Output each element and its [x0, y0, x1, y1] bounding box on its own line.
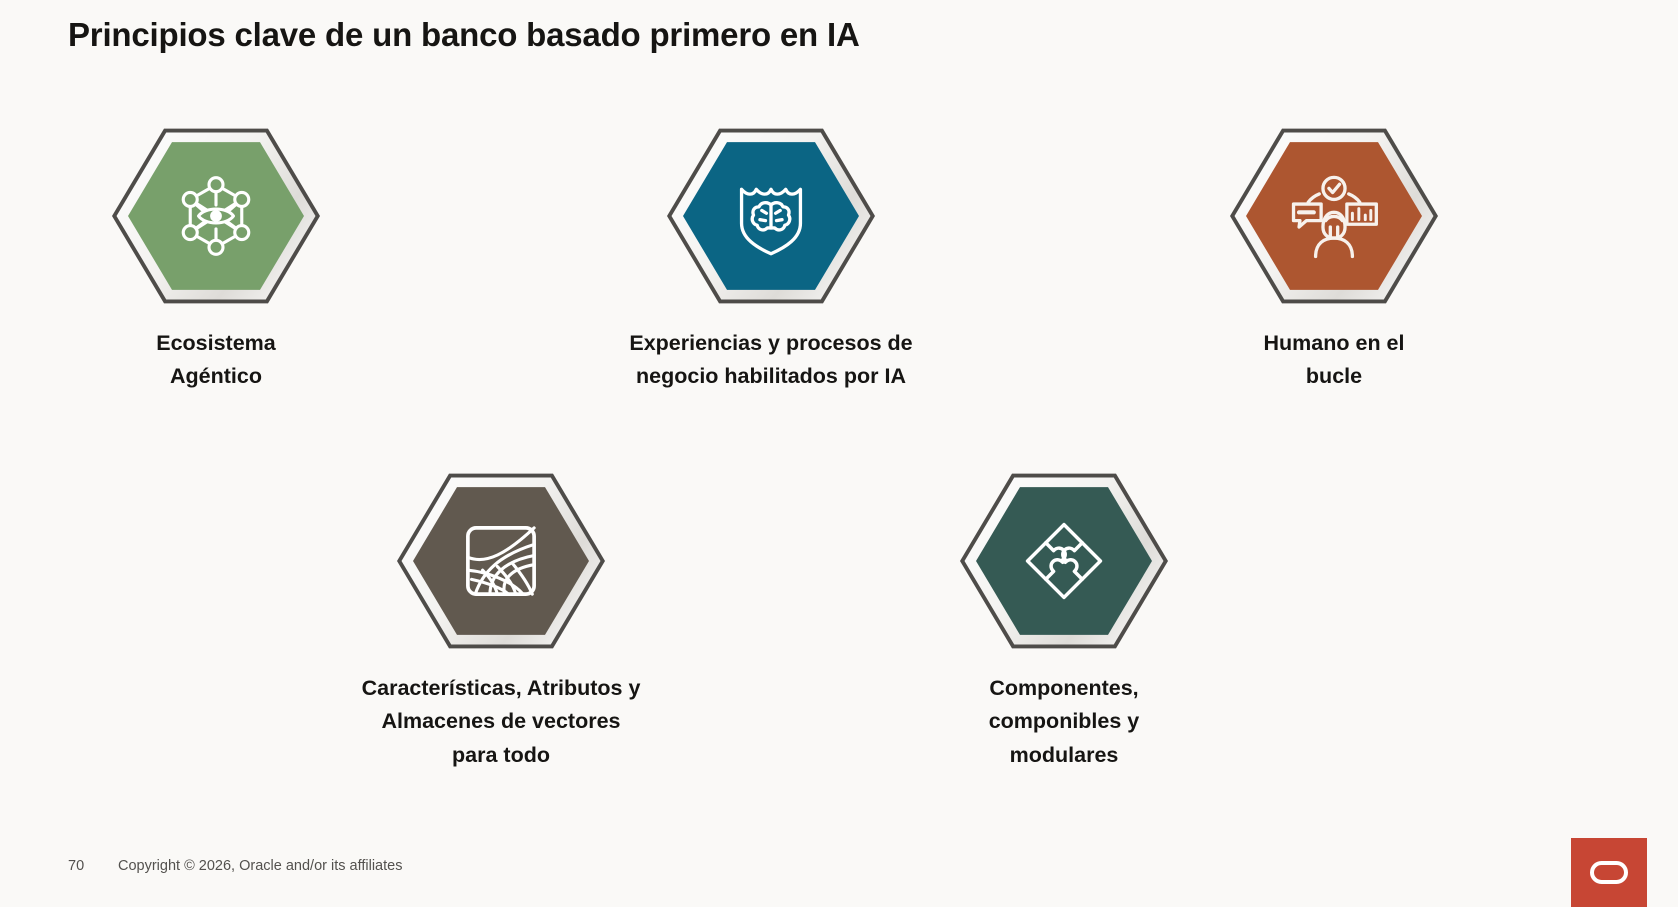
shield-brain-icon: [725, 170, 817, 262]
hexagon-badge: [960, 470, 1168, 652]
page-title: Principios clave de un banco basado prim…: [68, 16, 860, 54]
hexagon-badge: [397, 470, 605, 652]
network-eye-icon: [170, 170, 262, 262]
principle-label: Humano en el bucle: [1174, 327, 1494, 394]
oracle-o-mark: [1590, 861, 1628, 884]
vector-mesh-icon: [455, 515, 547, 607]
hexagon-badge: [112, 125, 320, 307]
principle-card-agentic-ecosystem: Ecosistema Agéntico: [56, 125, 376, 394]
human-in-the-loop-icon: [1288, 170, 1380, 262]
puzzle-diamond-icon: [1018, 515, 1110, 607]
principle-label: Componentes, componibles y modulares: [904, 672, 1224, 772]
copyright-text: Copyright © 2026, Oracle and/or its affi…: [118, 858, 402, 874]
hexagon-badge: [1230, 125, 1438, 307]
principle-card-human-in-the-loop: Humano en el bucle: [1174, 125, 1494, 394]
principle-label: Experiencias y procesos de negocio habil…: [611, 327, 931, 394]
principle-label: Ecosistema Agéntico: [56, 327, 376, 394]
hexagon-badge: [667, 125, 875, 307]
page-number: 70: [68, 858, 84, 874]
principle-card-composable-components: Componentes, componibles y modulares: [904, 470, 1224, 772]
principle-card-ai-enabled-experiences: Experiencias y procesos de negocio habil…: [611, 125, 931, 394]
oracle-logo: [1571, 838, 1647, 907]
principle-card-features-vector-stores: Características, Atributos y Almacenes d…: [341, 470, 661, 772]
principle-label: Características, Atributos y Almacenes d…: [341, 672, 661, 772]
